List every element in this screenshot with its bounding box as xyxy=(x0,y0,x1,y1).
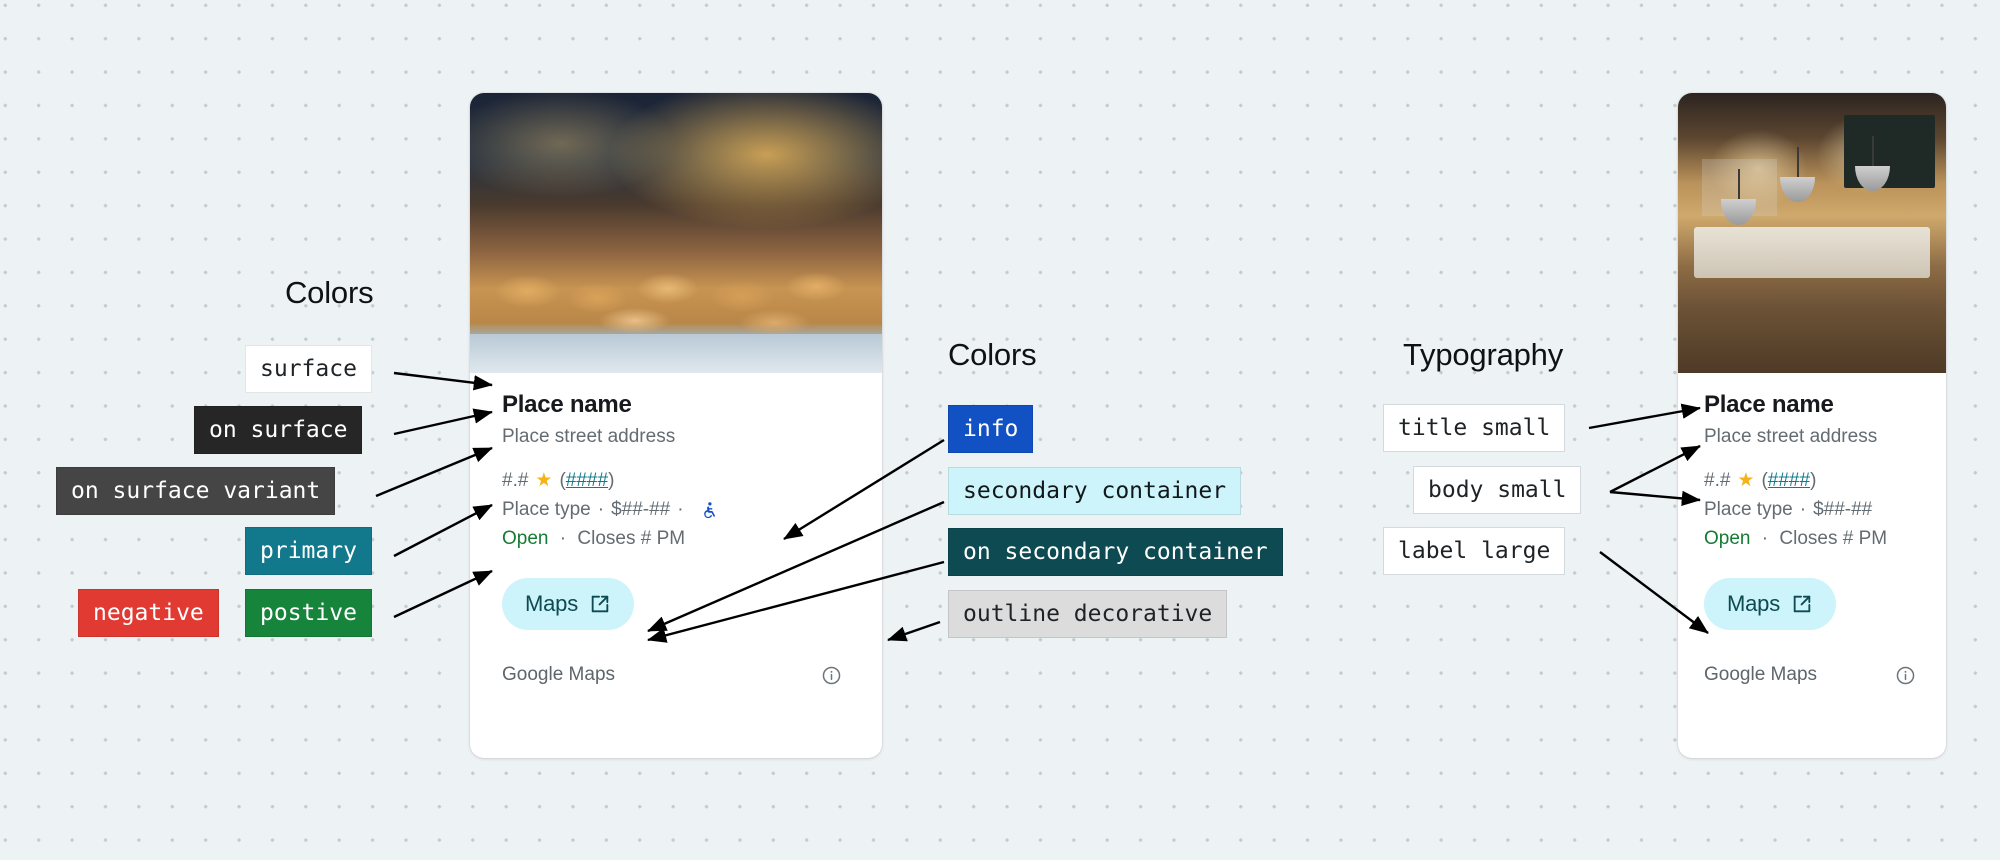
place-hours-row: Open · Closes # PM xyxy=(502,528,850,550)
color-token-primary[interactable]: primary xyxy=(245,527,372,575)
place-card-footer: Google Maps xyxy=(1704,664,1920,686)
separator-dot: · xyxy=(1800,499,1806,521)
rating-count-link[interactable]: #### xyxy=(566,470,608,492)
place-price: $##-## xyxy=(1813,499,1872,521)
place-card-primary: Place name Place street address #.# ★ ( … xyxy=(470,93,882,758)
place-type: Place type xyxy=(1704,499,1793,521)
rating-close-paren: ) xyxy=(608,470,614,492)
place-address: Place street address xyxy=(1704,424,1920,450)
place-hours-row: Open · Closes # PM xyxy=(1704,528,1920,550)
color-token-label: on surface xyxy=(209,419,347,442)
maps-button-label: Maps xyxy=(1727,591,1780,617)
place-rating-row: #.# ★ ( #### ) xyxy=(1704,469,1920,492)
place-address: Place street address xyxy=(502,424,850,450)
color-token-label: on secondary container xyxy=(963,541,1268,564)
footer-attribution-label: Google Maps xyxy=(1704,664,1817,686)
place-card-body: Place name Place street address #.# ★ ( … xyxy=(1678,373,1946,686)
place-type-row: Place type · $##-## xyxy=(1704,499,1920,521)
color-token-label: outline decorative xyxy=(963,603,1212,626)
wheelchair-icon xyxy=(700,501,719,520)
type-token-label-large[interactable]: label large xyxy=(1383,527,1565,575)
color-token-on-surface-variant[interactable]: on surface variant xyxy=(56,467,335,515)
info-circle-icon[interactable] xyxy=(821,665,842,686)
place-name: Place name xyxy=(1704,391,1920,419)
place-card-body: Place name Place street address #.# ★ ( … xyxy=(470,373,882,686)
section-title-typography: Typography xyxy=(1403,337,1563,373)
separator-dot-3: · xyxy=(1762,528,1768,549)
star-icon: ★ xyxy=(1737,469,1754,492)
place-name: Place name xyxy=(502,391,850,419)
separator-dot-2: · xyxy=(677,499,683,521)
place-status: Open xyxy=(502,528,548,549)
place-photo-cafe xyxy=(1678,93,1946,373)
maps-button-label: Maps xyxy=(525,591,578,617)
color-token-outline-decorative[interactable]: outline decorative xyxy=(948,590,1227,638)
place-card-secondary: Place name Place street address #.# ★ ( … xyxy=(1678,93,1946,758)
separator-dot-3: · xyxy=(560,528,566,549)
place-price: $##-## xyxy=(611,499,670,521)
section-title-colors-left: Colors xyxy=(285,275,373,311)
star-icon: ★ xyxy=(535,469,552,492)
type-token-title-small[interactable]: title small xyxy=(1383,404,1565,452)
color-token-negative[interactable]: negative xyxy=(78,589,219,637)
color-token-surface[interactable]: surface xyxy=(245,345,372,393)
color-token-label: negative xyxy=(93,602,204,625)
place-photo-bakery xyxy=(470,93,882,373)
type-token-label: title small xyxy=(1398,417,1550,440)
place-closing-time: Closes # PM xyxy=(577,528,685,549)
color-token-secondary-container[interactable]: secondary container xyxy=(948,467,1241,515)
rating-value: #.# xyxy=(502,470,528,492)
color-token-positive[interactable]: postive xyxy=(245,589,372,637)
section-title-colors-mid: Colors xyxy=(948,337,1036,373)
place-type-row: Place type · $##-## · xyxy=(502,499,850,521)
color-token-label: postive xyxy=(260,602,357,625)
color-token-label: info xyxy=(963,418,1018,441)
place-status: Open xyxy=(1704,528,1750,549)
maps-button[interactable]: Maps xyxy=(1704,578,1836,630)
place-rating-row: #.# ★ ( #### ) xyxy=(502,469,850,492)
place-closing-time: Closes # PM xyxy=(1779,528,1887,549)
arrow-outline-decorative xyxy=(888,622,940,640)
place-type: Place type xyxy=(502,499,591,521)
color-token-info[interactable]: info xyxy=(948,405,1033,453)
place-card-footer: Google Maps xyxy=(502,664,850,686)
type-token-body-small[interactable]: body small xyxy=(1413,466,1581,514)
color-token-label: surface xyxy=(260,358,357,381)
color-token-label: on surface variant xyxy=(71,480,320,503)
type-token-label: body small xyxy=(1428,479,1566,502)
rating-count-link[interactable]: #### xyxy=(1768,470,1810,492)
color-token-label: secondary container xyxy=(963,480,1226,503)
external-link-icon xyxy=(1791,593,1813,615)
color-token-label: primary xyxy=(260,540,357,563)
type-token-label: label large xyxy=(1398,540,1550,563)
rating-close-paren: ) xyxy=(1810,470,1816,492)
color-token-on-surface[interactable]: on surface xyxy=(194,406,362,454)
info-circle-icon[interactable] xyxy=(1895,665,1916,686)
separator-dot: · xyxy=(598,499,604,521)
external-link-icon xyxy=(589,593,611,615)
maps-button[interactable]: Maps xyxy=(502,578,634,630)
design-annotation-canvas: Colors Colors Typography surface on surf… xyxy=(0,0,2000,860)
rating-value: #.# xyxy=(1704,470,1730,492)
color-token-on-secondary-container[interactable]: on secondary container xyxy=(948,528,1283,576)
footer-attribution-label: Google Maps xyxy=(502,664,615,686)
